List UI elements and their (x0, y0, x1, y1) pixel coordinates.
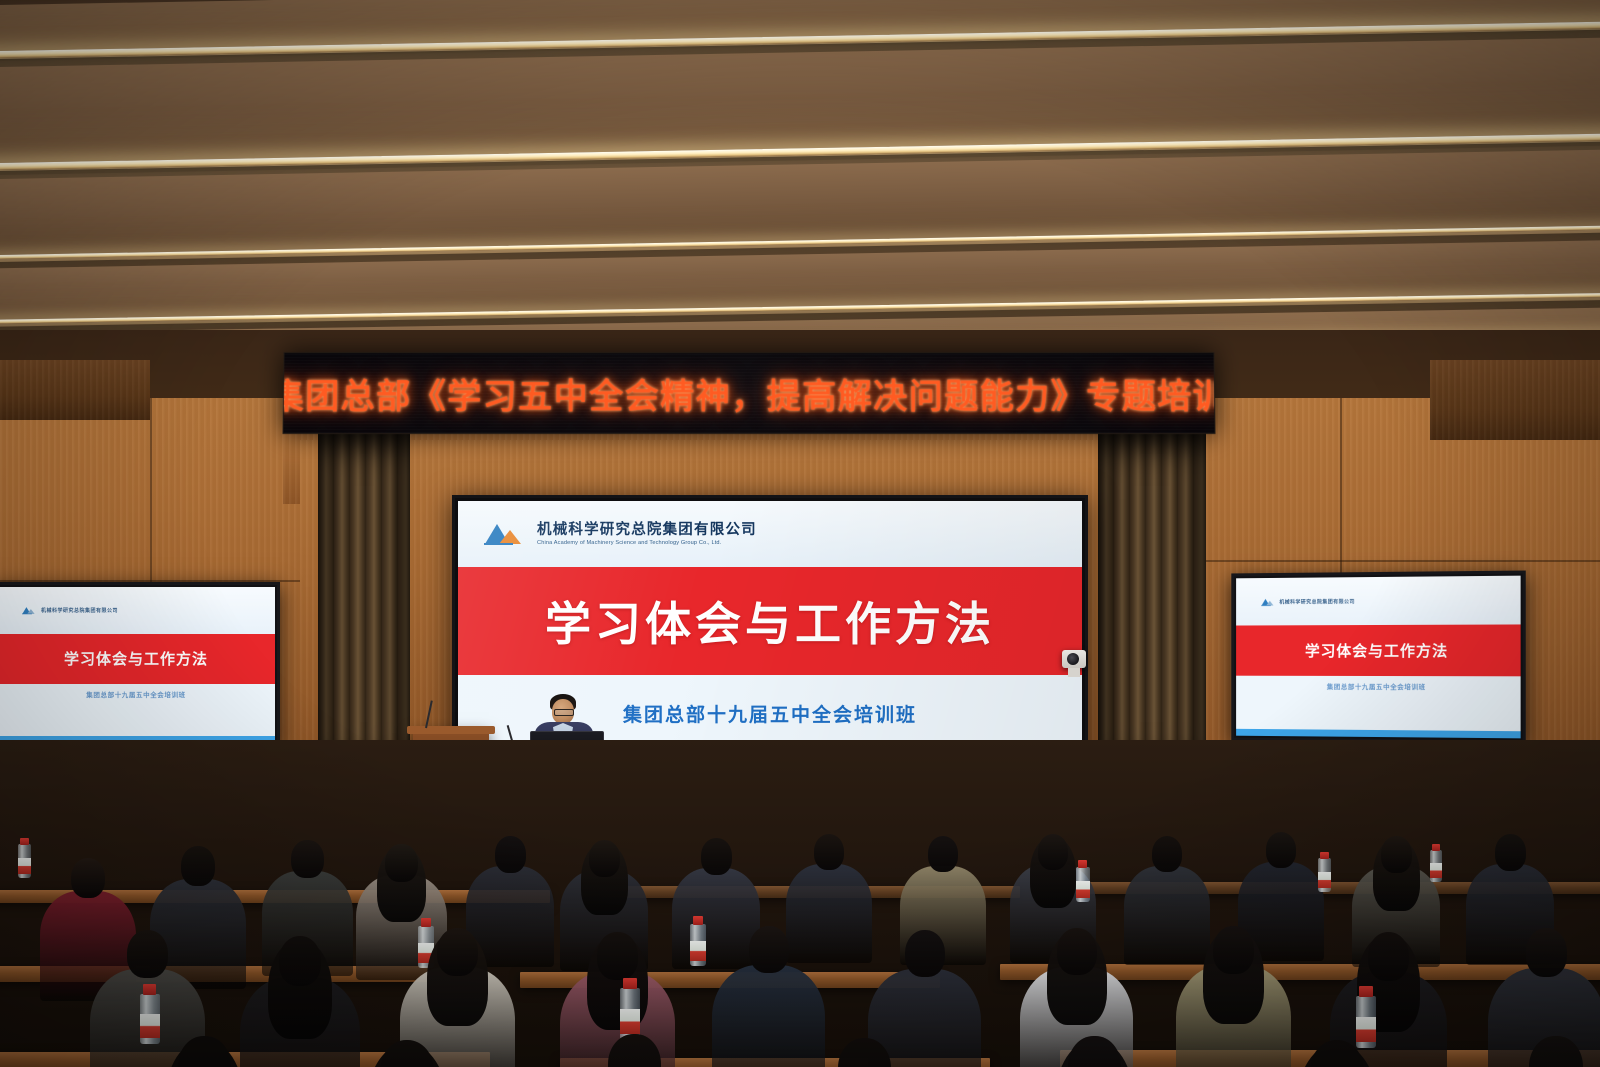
audience-member (1020, 1036, 1169, 1067)
audience-member (330, 1040, 484, 1067)
wall-wood-panel-right-outer (1430, 360, 1600, 440)
audience-member-head (1057, 928, 1097, 975)
bottle-cap (143, 984, 156, 995)
audience-member-head (838, 1038, 891, 1067)
audience-member-head (279, 936, 322, 986)
audience-member (130, 1036, 279, 1067)
audience-member-head (1495, 834, 1526, 871)
water-bottle (690, 916, 706, 966)
wall-wood-panel-left-outer (0, 360, 150, 420)
audience-member-head (495, 836, 526, 873)
water-bottle (1430, 844, 1442, 882)
left-side-monitor: 机械科学研究总院集团有限公司 学习体会与工作方法 集团总部十九届五中全会培训班 (0, 582, 280, 748)
bottle-cap (421, 918, 432, 927)
camera-lens-icon (1067, 653, 1079, 665)
audience-member-head (71, 858, 105, 898)
audience-member-head (749, 926, 789, 973)
audience-member-head (178, 1036, 231, 1067)
bottle-cap (623, 978, 636, 989)
ptz-camera (1062, 650, 1086, 668)
water-bottle (140, 984, 160, 1044)
audience-member-head (437, 928, 478, 976)
company-name-en: China Academy of Machinery Science and T… (537, 540, 757, 546)
presenter-glasses-icon (554, 709, 574, 716)
slide-title-band: 学习体会与工作方法 (458, 567, 1082, 675)
water-bottle (1318, 852, 1331, 892)
ptz-camera-bracket (1068, 668, 1080, 677)
stage-curtain-right (1098, 432, 1206, 784)
slide-subtitle: 集团总部十九届五中全会培训班 (623, 700, 917, 727)
bottle-cap (1432, 844, 1440, 851)
audience-member-head (1529, 1036, 1583, 1067)
bottle-cap (20, 838, 29, 845)
bottle-label (620, 1009, 640, 1034)
audience-member-head (1368, 932, 1409, 981)
ceiling (0, 0, 1600, 360)
water-bottle (620, 978, 640, 1040)
bottle-label (18, 858, 31, 874)
slide-header: 机械科学研究总院集团有限公司 China Academy of Machiner… (458, 501, 1082, 567)
audience-member-head (385, 844, 417, 882)
bottle-label (1356, 1017, 1376, 1042)
company-logo-icon (1261, 597, 1276, 606)
slide-title: 学习体会与工作方法 (545, 588, 995, 654)
audience-member-head (1213, 926, 1254, 974)
audience-member (790, 1038, 939, 1067)
right-monitor-subtitle: 集团总部十九届五中全会培训班 (1327, 681, 1426, 691)
company-logo-icon (484, 521, 528, 547)
led-banner: 集团总部《学习五中全会精神，提高解决问题能力》专题培训 (282, 352, 1215, 434)
audience-member-head (181, 846, 215, 886)
left-monitor-subtitle: 集团总部十九届五中全会培训班 (86, 689, 185, 699)
audience-member (1260, 1040, 1414, 1067)
left-monitor-title: 学习体会与工作方法 (64, 648, 208, 669)
bottle-label (1430, 863, 1442, 878)
audience-member-head (814, 834, 845, 870)
audience-member-head (597, 932, 638, 980)
right-monitor-title: 学习体会与工作方法 (1305, 640, 1448, 661)
audience-member-head (1068, 1036, 1121, 1067)
audience-member (1480, 1036, 1600, 1067)
audience-member-head (380, 1040, 434, 1067)
bottle-cap (693, 916, 704, 925)
audience-member-head (127, 930, 168, 978)
audience-member-head (1038, 834, 1069, 870)
right-monitor-accent-bar (1236, 729, 1521, 739)
audience-member-head (1526, 928, 1567, 977)
water-bottle (18, 838, 31, 878)
lectern-top (407, 726, 495, 734)
bottle-label (690, 941, 706, 961)
bottle-cap (1359, 986, 1372, 997)
stage-curtain-left (318, 432, 410, 784)
audience-member-head (1310, 1040, 1364, 1067)
company-logo-icon (22, 606, 37, 615)
audience-member-head (928, 836, 959, 872)
bottle-cap (1078, 860, 1087, 868)
bottle-cap (1320, 852, 1329, 859)
left-monitor-logo-text: 机械科学研究总院集团有限公司 (41, 607, 118, 614)
company-name-cn: 机械科学研究总院集团有限公司 (537, 522, 757, 539)
audience-member-head (1152, 836, 1183, 872)
bottle-label (1076, 881, 1090, 898)
audience-member-head (1266, 832, 1297, 868)
bottle-label (140, 1014, 160, 1038)
bottle-label (1318, 872, 1331, 888)
led-banner-text: 集团总部《学习五中全会精神，提高解决问题能力》专题培训 (282, 369, 1215, 418)
audience-member-head (291, 840, 323, 878)
water-bottle (1076, 860, 1090, 902)
audience-member (560, 1034, 709, 1067)
water-bottle (1356, 986, 1376, 1048)
audience-member-head (1381, 836, 1412, 873)
right-monitor-logo-text: 机械科学研究总院集团有限公司 (1279, 598, 1355, 605)
audience-member-head (905, 930, 945, 977)
audience-area (0, 740, 1600, 1067)
audience-member-head (589, 840, 620, 877)
audience-member-head (701, 838, 732, 875)
right-side-monitor: 机械科学研究总院集团有限公司 学习体会与工作方法 集团总部十九届五中全会培训班 (1231, 571, 1525, 744)
audience-member-head (608, 1034, 661, 1067)
conference-hall-photo: 集团总部《学习五中全会精神，提高解决问题能力》专题培训 机械科学研究总院集团有限… (0, 0, 1600, 1067)
